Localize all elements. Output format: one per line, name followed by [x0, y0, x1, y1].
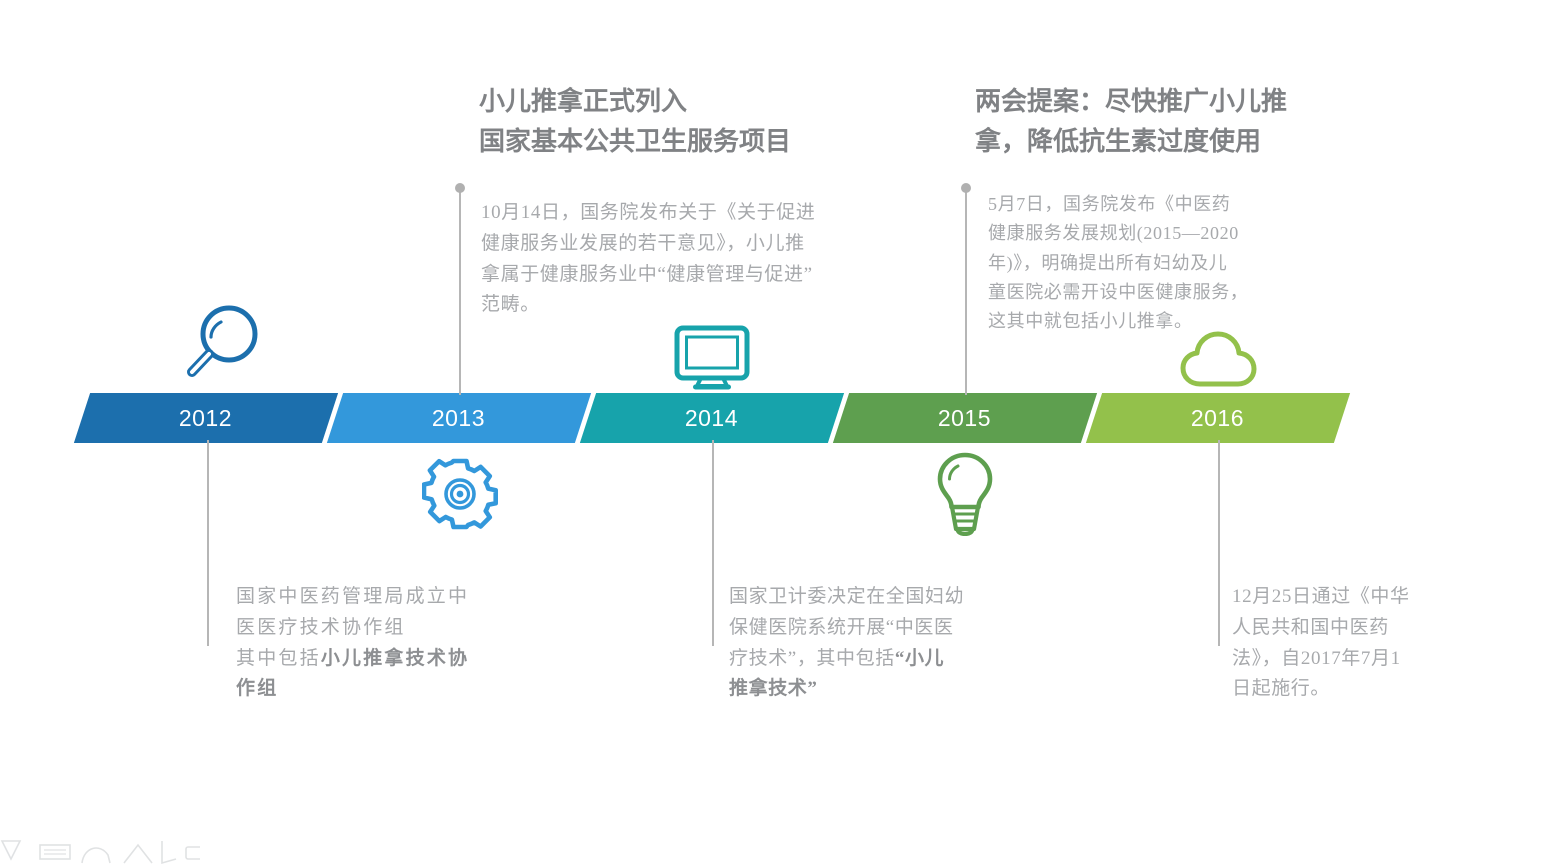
body-text-emphasis: 小儿推拿技术协 — [321, 648, 469, 669]
year-label: 2015 — [938, 405, 991, 432]
connector-line-2016 — [1218, 440, 1220, 646]
body-line: 推拿技术” — [729, 674, 1049, 705]
body-line: 法》，自2017年7月1 — [1232, 644, 1522, 675]
connector-line-2012 — [207, 440, 209, 646]
magnifier-icon — [176, 300, 266, 386]
event-body-2016: 12月25日通过《中华 人民共和国中医药 法》，自2017年7月1 日起施行。 — [1232, 582, 1522, 705]
body-line: 作组 — [236, 674, 566, 705]
connector-line-2015 — [965, 188, 967, 395]
body-line: 人民共和国中医药 — [1232, 613, 1522, 644]
body-text-emphasis: “小儿 — [895, 648, 944, 669]
headline-line: 国家基本公共卫生服务项目 — [479, 122, 899, 162]
headline-line: 两会提案：尽快推广小儿推 — [975, 82, 1395, 122]
year-label: 2016 — [1191, 405, 1244, 432]
body-line: 疗技术”，其中包括“小儿 — [729, 644, 1049, 675]
year-label: 2014 — [685, 405, 738, 432]
connector-line-2013 — [459, 188, 461, 395]
body-line: 5月7日，国务院发布《中医药 — [988, 190, 1368, 219]
body-text-emphasis: 推拿技术” — [729, 678, 818, 699]
event-body-2014: 国家卫计委决定在全国妇幼 保健医院系统开展“中医医 疗技术”，其中包括“小儿 推… — [729, 582, 1049, 705]
year-bar-2014[interactable]: 2014 — [580, 393, 844, 443]
body-line: 国家中医药管理局成立中 — [236, 582, 566, 613]
year-bar-2015[interactable]: 2015 — [833, 393, 1097, 443]
connector-dot — [455, 183, 465, 193]
body-line: 拿属于健康服务业中“健康管理与促进” — [481, 260, 936, 291]
body-text-emphasis: 作组 — [236, 678, 278, 699]
year-bar-2012[interactable]: 2012 — [74, 393, 338, 443]
body-line: 10月14日，国务院发布关于《关于促进 — [481, 198, 936, 229]
body-line: 其中包括小儿推拿技术协 — [236, 644, 566, 675]
body-line: 日起施行。 — [1232, 674, 1522, 705]
body-line: 12月25日通过《中华 — [1232, 582, 1522, 613]
body-line: 健康服务业发展的若干意见》，小儿推 — [481, 229, 936, 260]
year-label: 2012 — [179, 405, 232, 432]
lightbulb-icon — [934, 452, 996, 536]
body-line: 童医院必需开设中医健康服务， — [988, 278, 1368, 307]
connector-dot — [961, 183, 971, 193]
event-body-2013: 10月14日，国务院发布关于《关于促进 健康服务业发展的若干意见》，小儿推 拿属… — [481, 198, 936, 321]
body-line: 健康服务发展规划(2015—2020 — [988, 219, 1368, 248]
gear-icon — [422, 456, 498, 532]
headline-line: 小儿推拿正式列入 — [479, 82, 899, 122]
monitor-icon — [674, 325, 750, 391]
connector-line-2014 — [712, 440, 714, 646]
timeline-infographic: 2012 2013 2014 2015 2016 — [0, 0, 1563, 865]
body-text-normal: 其中包括 — [236, 648, 321, 669]
body-line: 医医疗技术协作组 — [236, 613, 566, 644]
body-line: 保健医院系统开展“中医医 — [729, 613, 1049, 644]
year-label: 2013 — [432, 405, 485, 432]
year-bar-2016[interactable]: 2016 — [1086, 393, 1350, 443]
year-bar-2013[interactable]: 2013 — [327, 393, 591, 443]
body-text-normal: 疗技术”，其中包括 — [729, 648, 895, 669]
event-headline-2013: 小儿推拿正式列入 国家基本公共卫生服务项目 — [479, 82, 899, 161]
cloud-icon — [1180, 330, 1266, 390]
body-line: 这其中就包括小儿推拿。 — [988, 307, 1368, 336]
headline-line: 拿，降低抗生素过度使用 — [975, 122, 1395, 162]
body-line: 国家卫计委决定在全国妇幼 — [729, 582, 1049, 613]
body-line: 年)》，明确提出所有妇幼及儿 — [988, 249, 1368, 278]
body-line: 范畴。 — [481, 290, 936, 321]
decorative-icon-strip — [0, 839, 200, 865]
event-body-2015: 5月7日，国务院发布《中医药 健康服务发展规划(2015—2020 年)》，明确… — [988, 190, 1368, 337]
event-headline-2015: 两会提案：尽快推广小儿推 拿，降低抗生素过度使用 — [975, 82, 1395, 161]
event-body-2012: 国家中医药管理局成立中 医医疗技术协作组 其中包括小儿推拿技术协 作组 — [236, 582, 566, 705]
